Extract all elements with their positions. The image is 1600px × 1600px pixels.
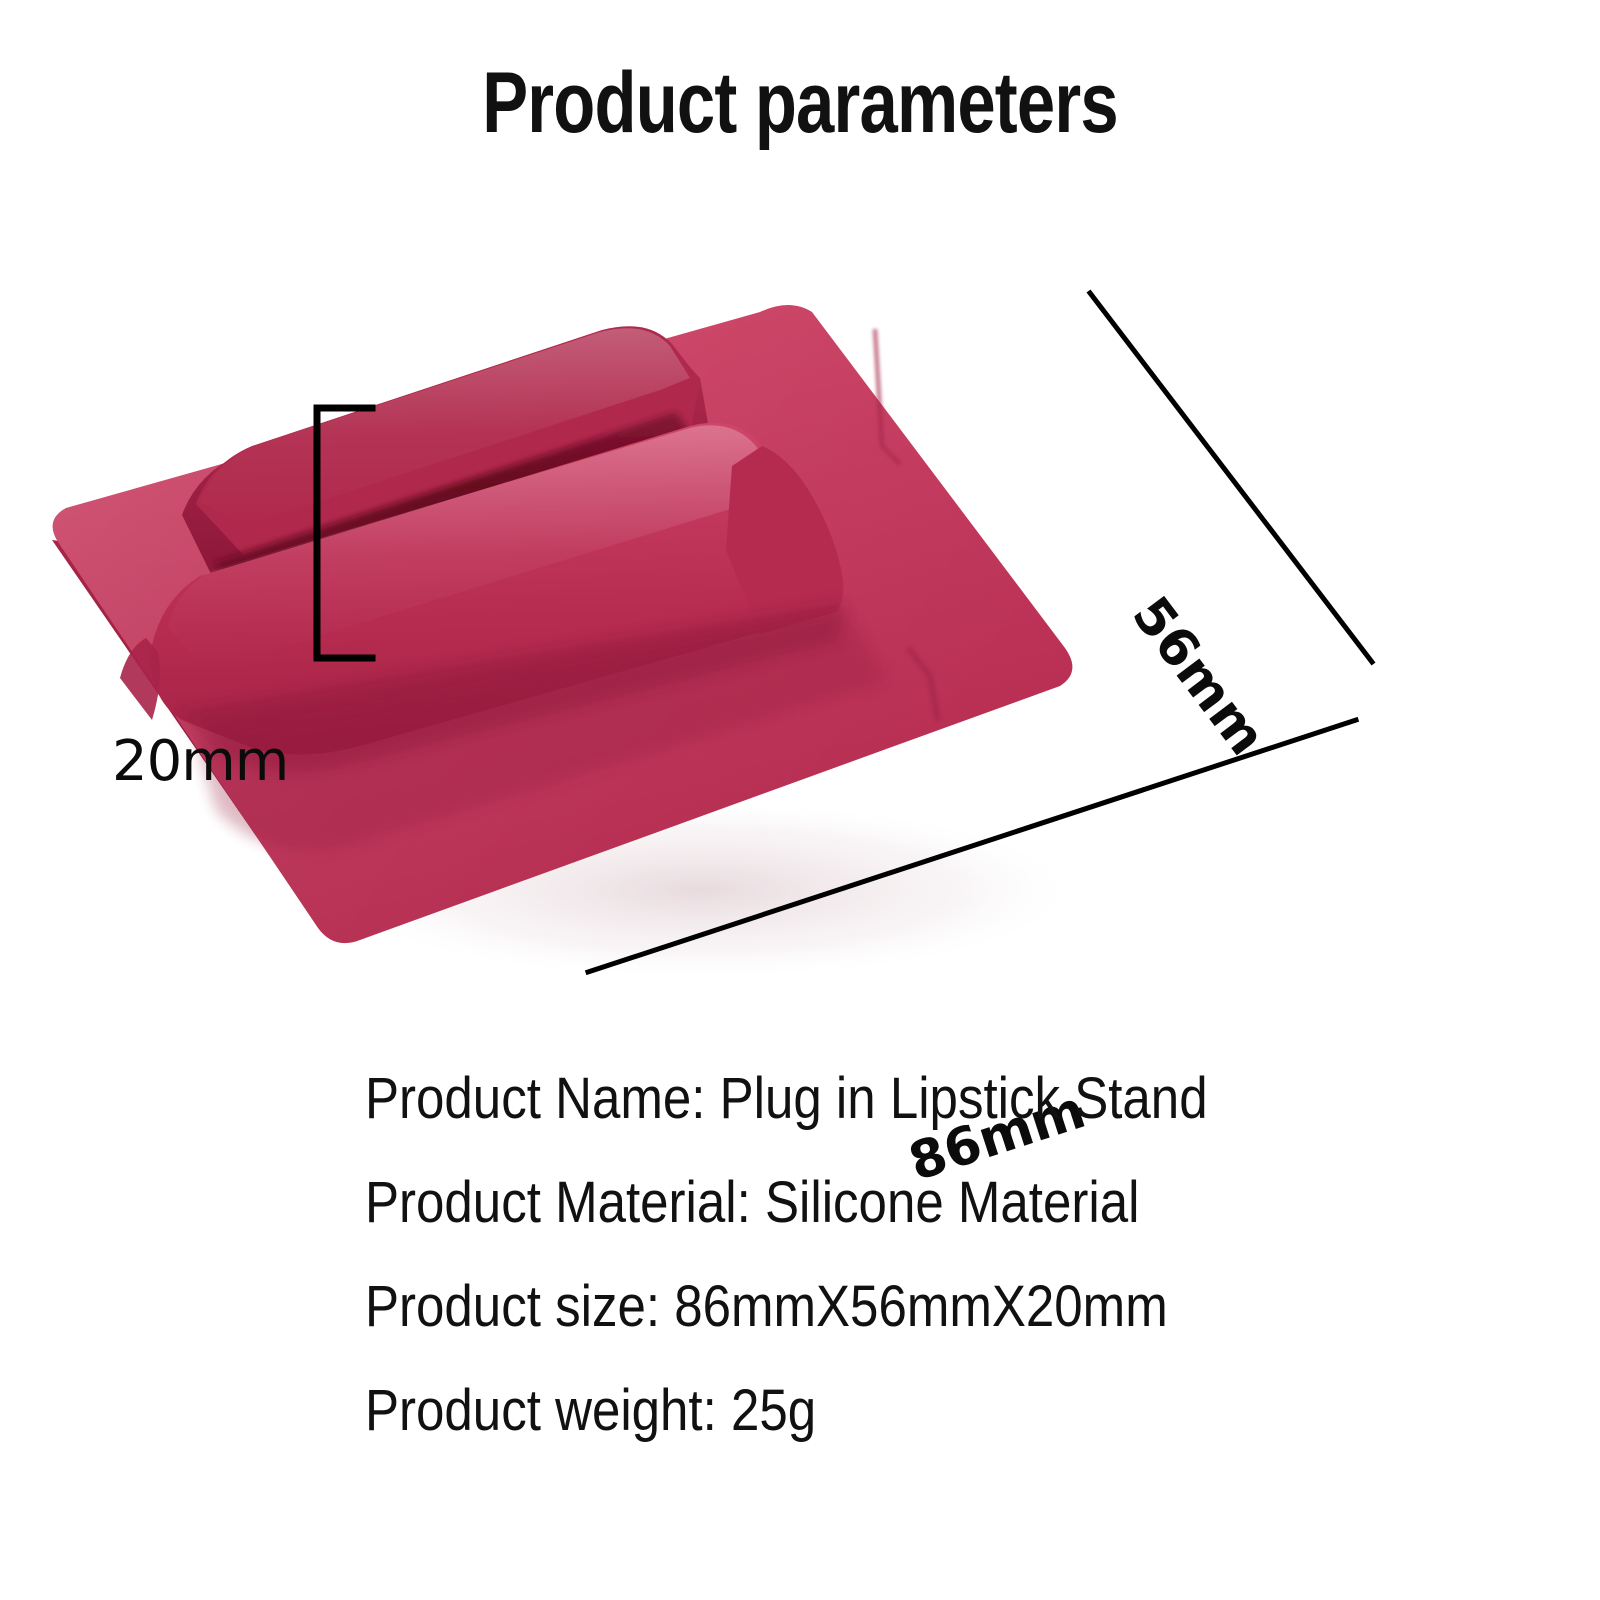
depth-dimension-line	[1090, 293, 1372, 662]
product-photo-illustration	[0, 250, 1600, 1040]
page-title: Product parameters	[160, 58, 1440, 148]
product-figure: 20mm 56mm 86mm	[0, 250, 1600, 1040]
product-spec-list: Product Name: Plug in Lipstick Stand Pro…	[365, 1058, 1465, 1474]
spec-line-product-name: Product Name: Plug in Lipstick Stand	[365, 1058, 1333, 1162]
spec-line-product-size: Product size: 86mmX56mmX20mm	[365, 1266, 1333, 1370]
spec-line-product-weight: Product weight: 25g	[365, 1370, 1333, 1474]
left-notch	[120, 638, 160, 720]
spec-line-product-material: Product Material: Silicone Material	[365, 1162, 1333, 1266]
dimension-label-height: 20mm	[112, 729, 288, 794]
